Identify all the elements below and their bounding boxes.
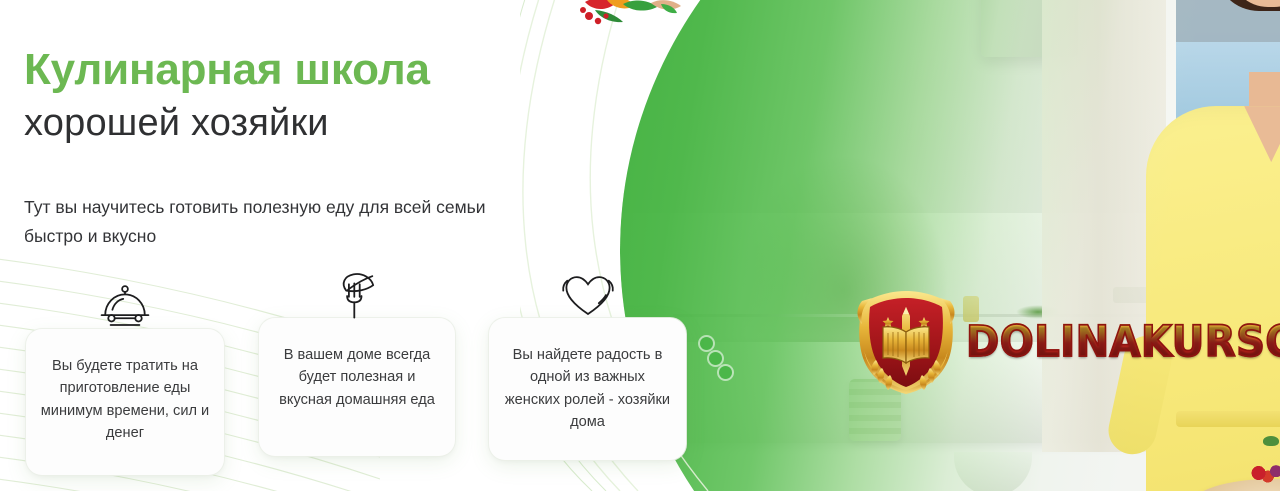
curve-dot-2 bbox=[709, 352, 722, 365]
watermark: DOLINAKURSOV bbox=[852, 288, 1280, 396]
curve-dot-1 bbox=[700, 337, 713, 350]
curve-dot-3 bbox=[719, 366, 732, 379]
page-title-line1: Кулинарная школа bbox=[24, 48, 430, 92]
watermark-text: DOLINAKURSOV bbox=[966, 318, 1280, 367]
benefit-card-text: Вы найдете радость в одной из важных жен… bbox=[489, 344, 686, 433]
cloche-icon bbox=[98, 283, 152, 331]
hero-banner: Кулинарная школа хорошей хозяйки Тут вы … bbox=[0, 0, 1280, 491]
benefit-card: В вашем доме всегда будет полезная и вку… bbox=[259, 318, 455, 456]
benefit-cards: Вы будете тратить на приготовление еды м… bbox=[0, 286, 700, 491]
fork-leaf-icon bbox=[330, 272, 384, 320]
benefit-card-text: В вашем доме всегда будет полезная и вку… bbox=[259, 344, 455, 411]
shield-book-pen-emblem-icon bbox=[852, 288, 960, 396]
hero-lead-text: Тут вы научитесь готовить полезную еду д… bbox=[24, 193, 494, 250]
hero-content: Кулинарная школа хорошей хозяйки Тут вы … bbox=[0, 0, 700, 491]
benefit-card-text: Вы будете тратить на приготовление еды м… bbox=[26, 355, 224, 444]
page-title-line2: хорошей хозяйки bbox=[24, 104, 329, 142]
vegetables-logo-cropped-icon: ПОДАРКИ bbox=[565, 0, 715, 26]
benefit-card: Вы будете тратить на приготовление еды м… bbox=[26, 329, 224, 475]
benefit-card: Вы найдете радость в одной из важных жен… bbox=[489, 318, 686, 460]
heart-icon bbox=[561, 272, 615, 320]
